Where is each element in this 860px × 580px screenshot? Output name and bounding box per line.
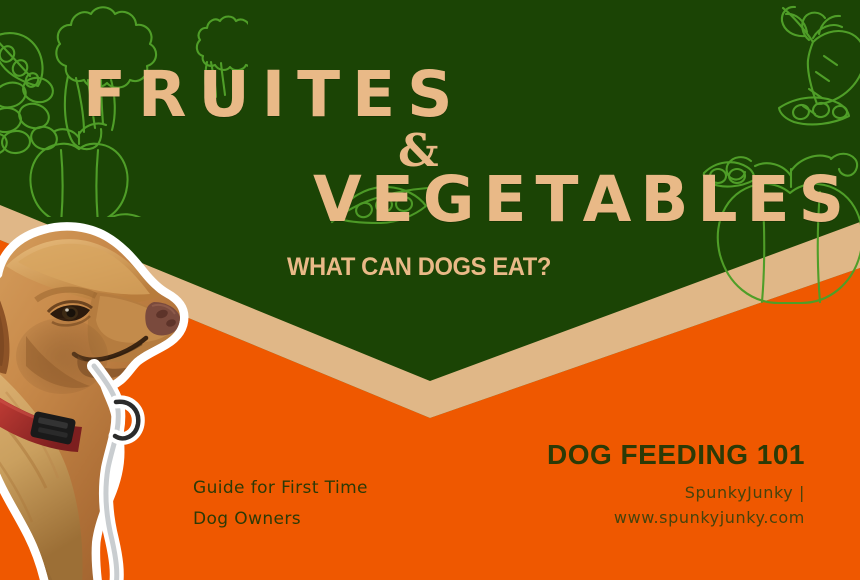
brand-title: DOG FEEDING 101 [547, 441, 805, 469]
guide-caption: Guide for First Time Dog Owners [193, 473, 368, 535]
brand-credit: SpunkyJunky | www.spunkyjunky.com [547, 480, 805, 530]
brand-block: DOG FEEDING 101 SpunkyJunky | www.spunky… [547, 441, 805, 530]
poster-canvas: FRUITES & VEGETABLES WHAT CAN DOGS EAT? [0, 0, 860, 580]
dog-photo [0, 196, 211, 580]
